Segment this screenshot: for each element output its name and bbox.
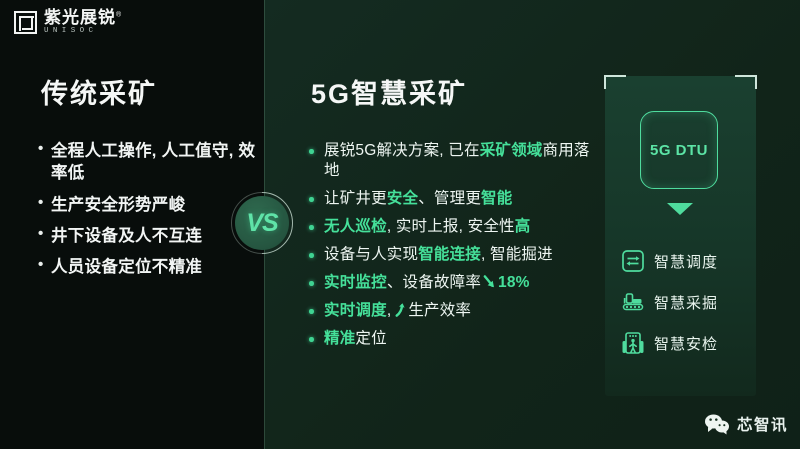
brand-logo-text: 紫光展锐® UNISOC	[44, 9, 122, 36]
unisoc-square-icon	[14, 11, 37, 34]
list-item: 设备与人实现智能连接, 智能掘进	[308, 245, 598, 265]
trademark-symbol: ®	[116, 11, 122, 18]
feature-label: 智慧安检	[654, 333, 718, 354]
brand-name-cn: 紫光展锐®	[44, 9, 122, 26]
list-item: 井下设备及人不互连	[38, 225, 258, 247]
bidirectional-arrows-icon	[620, 248, 646, 274]
triangle-down-icon	[667, 203, 693, 215]
list-item: 生产安全形势严峻	[38, 194, 258, 216]
feature-item-bidirectional-arrows: 智慧调度	[615, 244, 753, 278]
excavator-icon	[620, 289, 646, 315]
feature-item-excavator: 智慧采掘	[615, 285, 753, 319]
watermark-text: 芯智讯	[737, 413, 788, 435]
device-panel: 5G DTU 智慧调度智慧采掘智慧安检	[605, 76, 756, 396]
watermark: 芯智讯	[704, 413, 788, 435]
device-5g-dtu: 5G DTU	[640, 111, 718, 189]
right-bullet-list: 展锐5G解决方案, 已在采矿领域商用落地让矿井更安全、管理更智能无人巡检, 实时…	[308, 141, 598, 357]
list-item: 无人巡检, 实时上报, 安全性高	[308, 217, 598, 237]
list-item: 精准定位	[308, 329, 598, 349]
device-label: 5G DTU	[650, 142, 708, 159]
wechat-icon	[704, 413, 730, 435]
feature-label: 智慧调度	[654, 251, 718, 272]
slide-canvas: 紫光展锐® UNISOC 传统采矿 全程人工操作, 人工值守, 效率低 生产安全…	[0, 0, 800, 449]
feature-item-security-gate: 智慧安检	[615, 326, 753, 360]
list-item: 人员设备定位不精准	[38, 256, 258, 278]
feature-label: 智慧采掘	[654, 292, 718, 313]
list-item: 全程人工操作, 人工值守, 效率低	[38, 140, 258, 185]
corner-bracket-top-left-icon	[604, 75, 626, 89]
arrow-up-icon	[392, 302, 407, 318]
left-bullet-list: 全程人工操作, 人工值守, 效率低 生产安全形势严峻 井下设备及人不互连 人员设…	[38, 140, 258, 287]
versus-label: VS	[231, 192, 293, 254]
left-column-title: 传统采矿	[41, 72, 157, 111]
list-item: 展锐5G解决方案, 已在采矿领域商用落地	[308, 141, 598, 182]
security-gate-icon	[620, 330, 646, 356]
list-item: 实时监控、设备故障率18%	[308, 273, 598, 293]
list-item: 让矿井更安全、管理更智能	[308, 189, 598, 209]
versus-badge: VS	[231, 192, 293, 254]
corner-bracket-top-right-icon	[735, 75, 757, 89]
brand-logo: 紫光展锐® UNISOC	[14, 9, 122, 36]
arrow-down-icon	[482, 274, 497, 290]
list-item: 实时调度,生产效率	[308, 301, 598, 321]
feature-list: 智慧调度智慧采掘智慧安检	[615, 244, 753, 367]
brand-name-en: UNISOC	[44, 28, 122, 36]
right-column-title: 5G智慧采矿	[311, 72, 467, 111]
